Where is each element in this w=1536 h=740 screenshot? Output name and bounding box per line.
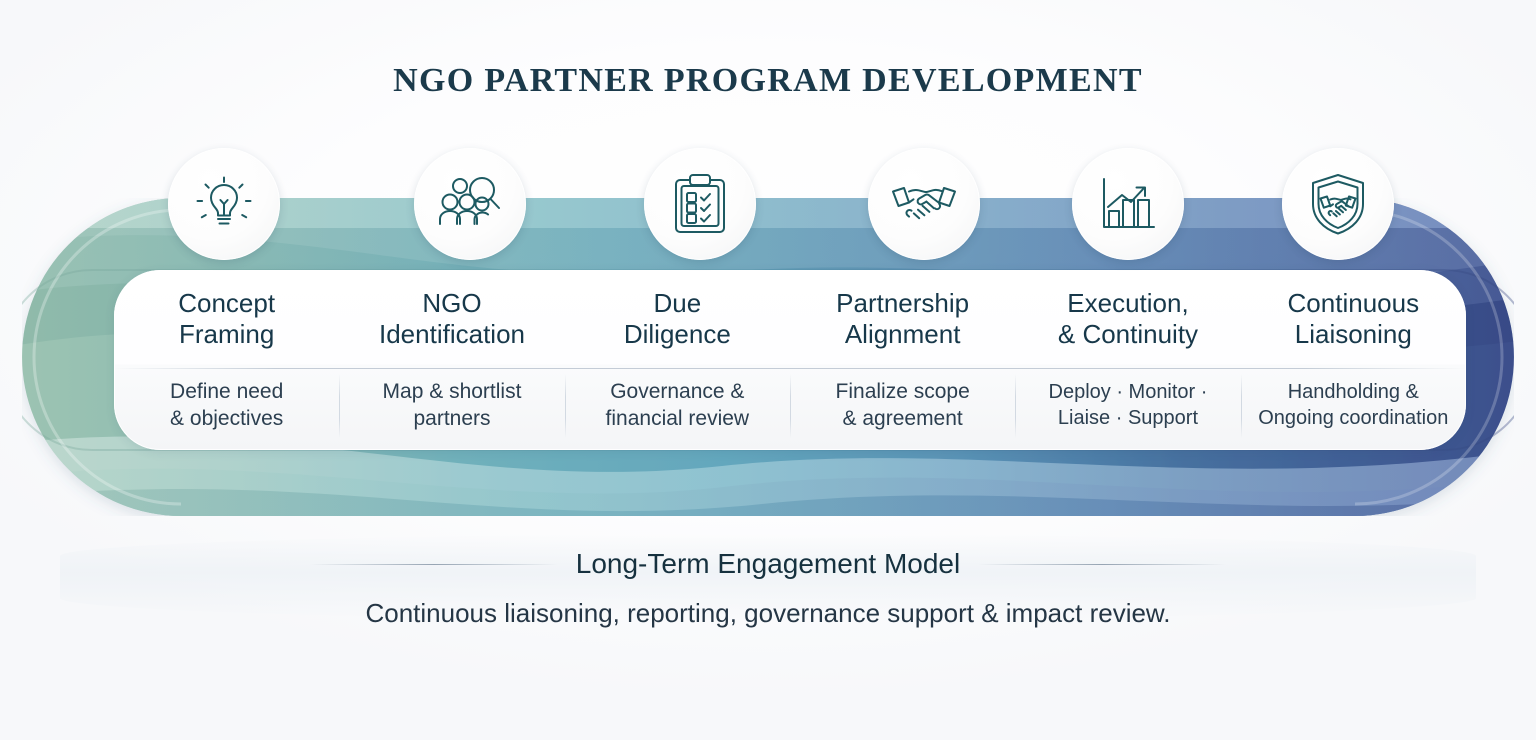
step-title: NGOIdentification (339, 270, 564, 368)
footer-heading: Long-Term Engagement Model (576, 548, 960, 580)
step-5-execution-continuity[interactable]: Execution,& Continuity Deploy · Monitor … (1015, 270, 1240, 450)
step-icon-2[interactable] (414, 148, 526, 260)
step-1-concept-framing[interactable]: ConceptFraming Define need& objectives (114, 270, 339, 450)
page-title: NGO PARTNER PROGRAM DEVELOPMENT (0, 62, 1536, 100)
step-desc-line1: Define need (170, 380, 283, 403)
step-separator (1241, 374, 1242, 438)
footer-rule-left (310, 564, 558, 565)
step-desc-line1: Map & shortlist (383, 380, 522, 403)
step-desc-line1: Finalize scope (836, 380, 970, 403)
steps-card: ConceptFraming Define need& objectives N… (114, 270, 1466, 450)
step-desc-line2: financial review (606, 407, 750, 430)
footer-subtext: Continuous liaisoning, reporting, govern… (0, 598, 1536, 629)
steps-list: ConceptFraming Define need& objectives N… (114, 270, 1466, 450)
step-desc-line2: & agreement (843, 407, 963, 430)
step-title-line1: Due (653, 288, 701, 318)
step-title-line2: & Continuity (1058, 319, 1198, 349)
footer-rule-right (978, 564, 1226, 565)
growth-chart-icon (1098, 175, 1158, 233)
step-title-line2: Alignment (845, 319, 961, 349)
step-title-line1: NGO (422, 288, 481, 318)
step-description: Map & shortlistpartners (339, 368, 564, 450)
step-desc-line2: Liaise · Support (1058, 407, 1198, 429)
step-title-line2: Diligence (624, 319, 731, 349)
step-title-line1: Execution, (1067, 288, 1188, 318)
people-search-icon (438, 174, 502, 234)
step-separator (1015, 374, 1016, 438)
step-desc-line2: Ongoing coordination (1258, 407, 1448, 429)
step-title-line2: Liaisoning (1295, 319, 1412, 349)
step-separator (339, 374, 340, 438)
step-4-partnership-alignment[interactable]: PartnershipAlignment Finalize scope& agr… (790, 270, 1015, 450)
step-title-line1: Continuous (1288, 288, 1420, 318)
step-desc-line2: & objectives (170, 407, 283, 430)
step-title: Execution,& Continuity (1015, 270, 1240, 368)
step-title: DueDiligence (565, 270, 790, 368)
step-icon-1[interactable] (168, 148, 280, 260)
step-separator (790, 374, 791, 438)
clipboard-checklist-icon (672, 173, 728, 235)
footer-heading-row: Long-Term Engagement Model (0, 548, 1536, 580)
step-title: ContinuousLiaisoning (1241, 270, 1466, 368)
footer: Long-Term Engagement Model Continuous li… (0, 548, 1536, 629)
step-desc-line2: partners (413, 407, 490, 430)
step-title: PartnershipAlignment (790, 270, 1015, 368)
step-6-continuous-liaisoning[interactable]: ContinuousLiaisoning Handholding &Ongoin… (1241, 270, 1466, 450)
step-title-line1: Concept (178, 288, 275, 318)
step-description: Handholding &Ongoing coordination (1241, 368, 1466, 450)
step-desc-line1: Deploy · Monitor · (1049, 381, 1208, 403)
step-icon-6[interactable] (1282, 148, 1394, 260)
step-icon-4[interactable] (868, 148, 980, 260)
step-desc-line1: Handholding & (1288, 381, 1419, 403)
step-description: Define need& objectives (114, 368, 339, 450)
lightbulb-icon (193, 173, 255, 235)
step-description: Deploy · Monitor ·Liaise · Support (1015, 368, 1240, 450)
step-title: ConceptFraming (114, 270, 339, 368)
shield-handshake-icon (1307, 172, 1369, 236)
step-icons (22, 148, 1514, 268)
step-2-ngo-identification[interactable]: NGOIdentification Map & shortlistpartner… (339, 270, 564, 450)
step-description: Governance &financial review (565, 368, 790, 450)
infographic-canvas: NGO PARTNER PROGRAM DEVELOPMENT (0, 0, 1536, 740)
step-desc-line1: Governance & (610, 380, 744, 403)
step-icon-3[interactable] (644, 148, 756, 260)
step-title-line2: Identification (379, 319, 525, 349)
step-title-line2: Framing (179, 319, 274, 349)
step-title-line1: Partnership (836, 288, 969, 318)
step-separator (565, 374, 566, 438)
step-description: Finalize scope& agreement (790, 368, 1015, 450)
step-3-due-diligence[interactable]: DueDiligence Governance &financial revie… (565, 270, 790, 450)
handshake-icon (891, 181, 957, 227)
step-icon-5[interactable] (1072, 148, 1184, 260)
